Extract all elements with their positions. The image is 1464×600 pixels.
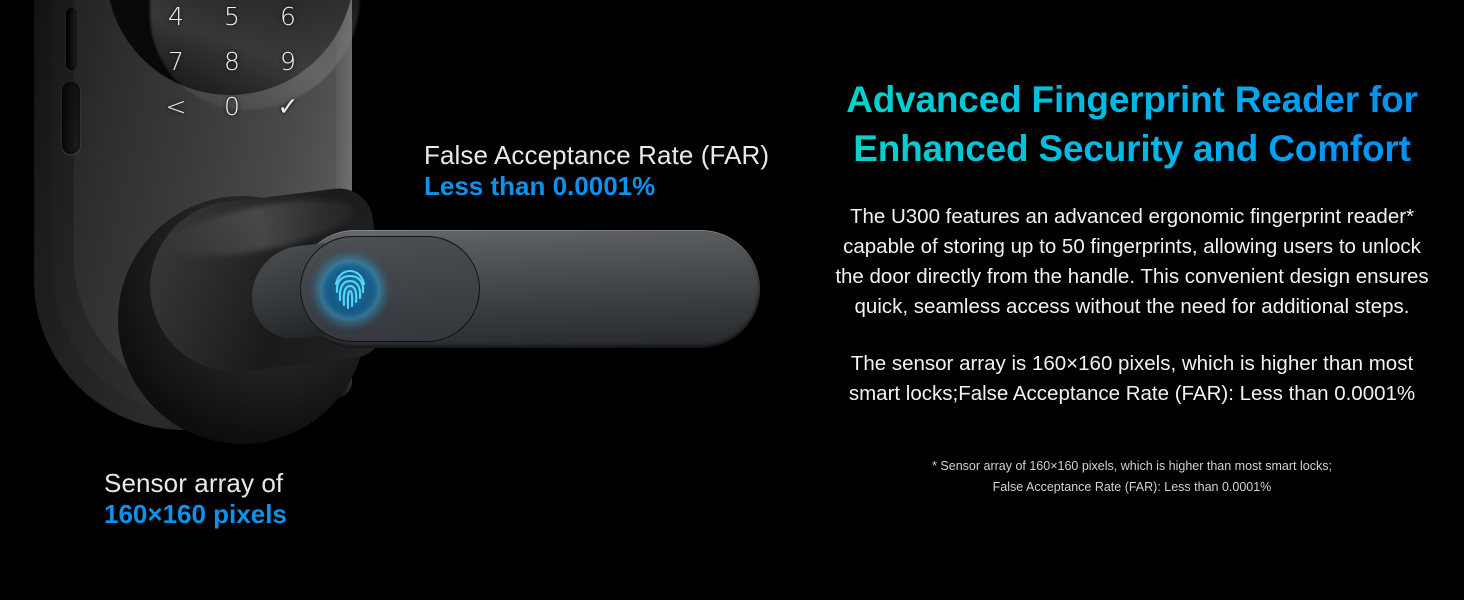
fingerprint-icon (331, 268, 369, 312)
keypad-key-confirm[interactable]: ✓ (278, 94, 299, 119)
callout-far-value: Less than 0.0001% (424, 171, 769, 202)
headline-line-1: Advanced Fingerprint Reader for (824, 76, 1440, 125)
keypad-key-5[interactable]: 5 (224, 4, 240, 29)
body-paragraph-2: The sensor array is 160×160 pixels, whic… (800, 322, 1464, 409)
fingerprint-sensor[interactable] (322, 262, 378, 318)
keypad-key-0[interactable]: 0 (224, 94, 240, 119)
keypad-key-back[interactable]: < (166, 94, 187, 119)
headline-line-2: Enhanced Security and Comfort (824, 125, 1440, 174)
callout-far: False Acceptance Rate (FAR) Less than 0.… (424, 140, 769, 202)
body-paragraph-1: The U300 features an advanced ergonomic … (800, 174, 1464, 323)
keypad-key-6[interactable]: 6 (280, 4, 296, 29)
callout-far-title: False Acceptance Rate (FAR) (424, 140, 769, 171)
callout-sensor-array-value: 160×160 pixels (104, 499, 287, 530)
copy-column: Advanced Fingerprint Reader for Enhanced… (800, 0, 1464, 600)
lock-side-slot (66, 8, 77, 70)
callout-sensor-array: Sensor array of 160×160 pixels (104, 468, 287, 530)
callout-sensor-array-title: Sensor array of (104, 468, 287, 499)
lock-side-button[interactable] (62, 82, 80, 154)
keypad-key-4[interactable]: 4 (168, 4, 184, 29)
keypad-key-7[interactable]: 7 (168, 49, 184, 74)
keypad-key-8[interactable]: 8 (224, 49, 240, 74)
footnote-line-2: False Acceptance Rate (FAR): Less than 0… (864, 477, 1400, 497)
footnote-line-1: * Sensor array of 160×160 pixels, which … (864, 456, 1400, 476)
keypad-key-9[interactable]: 9 (280, 49, 296, 74)
feature-banner: 4 5 6 7 8 9 < 0 ✓ (0, 0, 1464, 600)
headline: Advanced Fingerprint Reader for Enhanced… (800, 0, 1464, 174)
keypad-grid[interactable]: 4 5 6 7 8 9 < 0 ✓ (148, 0, 316, 129)
product-photo: 4 5 6 7 8 9 < 0 ✓ (0, 0, 800, 600)
footnote: * Sensor array of 160×160 pixels, which … (800, 409, 1464, 497)
